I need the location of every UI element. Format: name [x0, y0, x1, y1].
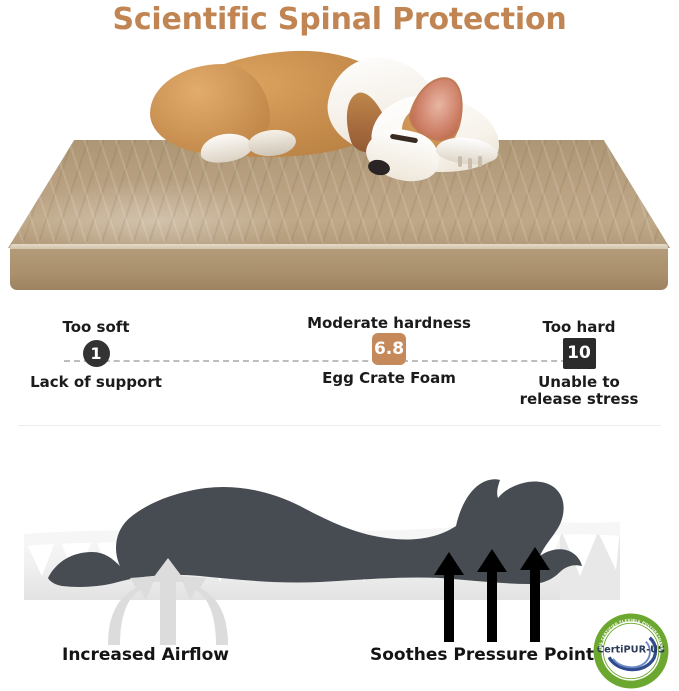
scale-stop-too-hard: Too hard 10 Unable to release stress — [505, 318, 653, 408]
scale-marker-1: 1 — [83, 340, 110, 367]
section-divider — [18, 425, 661, 426]
scale-stop-moderate: Moderate hardness 6.8 Egg Crate Foam — [294, 314, 484, 387]
scale-stop-caption-top: Too soft — [16, 318, 176, 336]
pressure-arrows — [434, 547, 550, 642]
corgi-dog-image — [140, 42, 560, 192]
scale-stop-caption-bottom: Lack of support — [16, 374, 176, 391]
airflow-label: Increased Airflow — [62, 645, 229, 665]
scale-stop-too-soft: Too soft 1 Lack of support — [16, 318, 176, 391]
scale-stop-caption-top: Moderate hardness — [294, 314, 484, 332]
dog-toe — [468, 158, 472, 169]
page-title: Scientific Spinal Protection — [0, 2, 679, 37]
infographic-page: Scientific Spinal Protection — [0, 0, 679, 691]
certipur-us-badge: CertiPUR-US CONTAINS CERTIFIED FLEXIBLE … — [592, 612, 670, 690]
scale-marker-wrap: 1 — [16, 338, 176, 368]
certipur-seal-svg: CertiPUR-US CONTAINS CERTIFIED FLEXIBLE … — [592, 612, 670, 690]
scale-marker-wrap: 10 — [505, 338, 653, 368]
certipur-wordmark: CertiPUR-US — [597, 645, 665, 656]
hero-product-photo — [0, 42, 679, 290]
scale-stop-caption-bottom: Unable to release stress — [505, 374, 653, 408]
hardness-scale: Too soft 1 Lack of support Moderate hard… — [0, 312, 679, 420]
dog-toe — [478, 156, 482, 167]
scale-stop-caption-bottom: Egg Crate Foam — [294, 370, 484, 387]
scale-marker-10: 10 — [563, 338, 596, 369]
scale-marker-68: 6.8 — [372, 333, 406, 365]
pressure-points-label: Soothes Pressure Points — [370, 645, 604, 665]
scale-stop-caption-top: Too hard — [505, 318, 653, 336]
dog-toe — [458, 156, 462, 167]
bed-side-panel — [10, 249, 668, 290]
scale-marker-wrap: 6.8 — [294, 334, 484, 364]
